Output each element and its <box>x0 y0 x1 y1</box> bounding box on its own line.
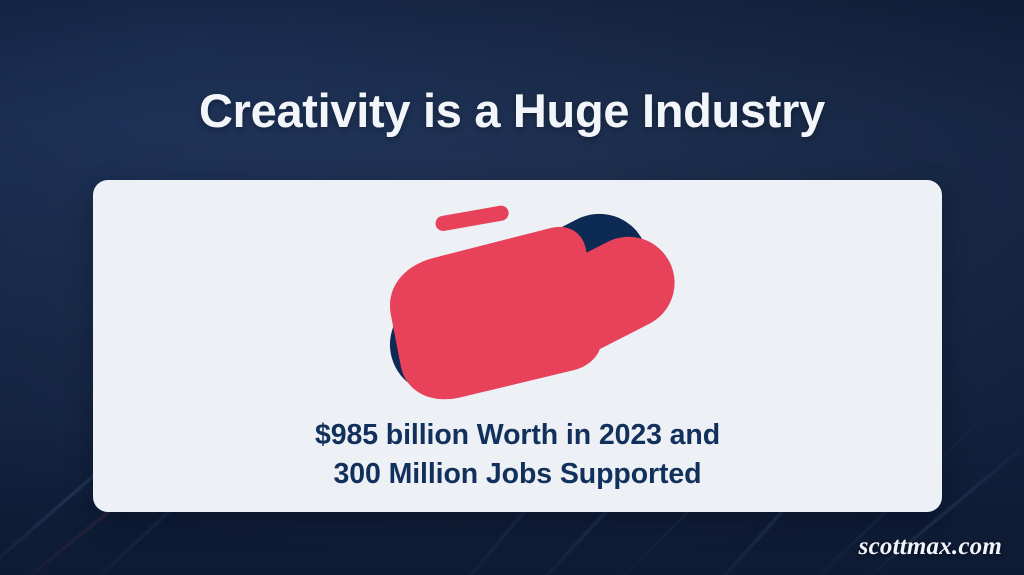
slide-title: Creativity is a Huge Industry <box>0 86 1024 137</box>
card-caption: $985 billion Worth in 2023 and 300 Milli… <box>93 416 942 494</box>
slide-canvas: Creativity is a Huge Industry <box>0 0 1024 575</box>
content-card: $985 billion Worth in 2023 and 300 Milli… <box>93 180 942 512</box>
caption-line-1: $985 billion Worth in 2023 and <box>93 416 942 455</box>
abstract-overlapping-shapes-logo <box>351 194 681 409</box>
caption-line-2: 300 Million Jobs Supported <box>93 455 942 494</box>
site-watermark: scottmax.com <box>859 533 1002 561</box>
